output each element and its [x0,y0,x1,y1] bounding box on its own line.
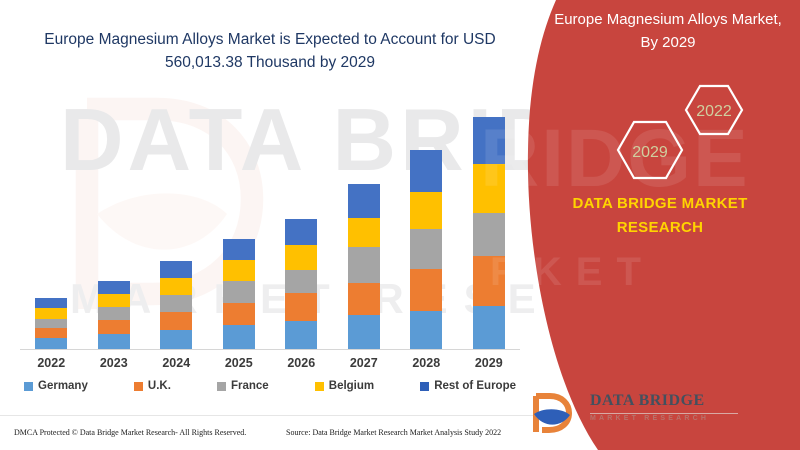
stacked-bar[interactable] [285,219,317,349]
legend-label: Belgium [329,380,374,392]
stacked-bar[interactable] [35,298,67,349]
logo-text-sub: MARKET RESEARCH [590,415,709,422]
bar-group [20,90,83,349]
bar-segment[interactable] [410,229,442,269]
bar-group [208,90,271,349]
bar-segment[interactable] [98,281,130,294]
bar-segment[interactable] [223,303,255,325]
legend-swatch-icon [217,382,226,391]
legend-label: France [231,380,269,392]
x-axis-label: 2028 [395,356,458,370]
bar-group [333,90,396,349]
bar-group [270,90,333,349]
bar-segment[interactable] [35,298,67,308]
bar-segment[interactable] [35,338,67,349]
hexagon-2022-label: 2022 [696,103,732,120]
bar-group [83,90,146,349]
legend-label: Germany [38,380,88,392]
bar-segment[interactable] [285,321,317,349]
bar-segment[interactable] [98,334,130,349]
legend-item[interactable]: Germany [24,380,88,392]
bar-segment[interactable] [98,307,130,320]
x-axis-label: 2024 [145,356,208,370]
bar-segment[interactable] [160,312,192,330]
legend-swatch-icon [420,382,429,391]
data-bridge-logo-icon [528,392,584,436]
bar-chart-plot-area [20,90,520,350]
bar-segment[interactable] [348,218,380,248]
stacked-bar[interactable] [410,150,442,349]
company-logo: DATA BRIDGE MARKET RESEARCH [528,392,768,438]
hexagon-2029-label: 2029 [632,144,668,161]
x-axis-label: 2025 [208,356,271,370]
bar-segment[interactable] [223,260,255,281]
bar-segment[interactable] [35,319,67,328]
legend-label: Rest of Europe [434,380,516,392]
hexagon-badges: 2022 2029 [550,78,780,193]
bar-segment[interactable] [285,293,317,321]
bar-segment[interactable] [410,269,442,311]
bar-segment[interactable] [160,278,192,295]
x-axis-label: 2022 [20,356,83,370]
bar-segment[interactable] [285,219,317,246]
logo-text-main: DATA BRIDGE [590,392,705,410]
legend-item[interactable]: U.K. [134,380,171,392]
panel-brand-line2: RESEARCH [617,219,704,236]
bar-segment[interactable] [160,295,192,312]
stacked-bar[interactable] [223,239,255,349]
bar-series-container [20,90,520,349]
bar-segment[interactable] [35,308,67,319]
bar-segment[interactable] [473,306,505,349]
legend-item[interactable]: Rest of Europe [420,380,516,392]
bar-group [145,90,208,349]
stacked-bar[interactable] [98,281,130,349]
x-axis-line [20,349,520,350]
bar-segment[interactable] [35,328,67,338]
legend-label: U.K. [148,380,171,392]
legend-swatch-icon [315,382,324,391]
legend-swatch-icon [24,382,33,391]
bar-segment[interactable] [160,330,192,349]
branding-panel: RIDGE RKET Europe Magnesium Alloys Marke… [510,0,800,450]
bar-segment[interactable] [410,150,442,192]
panel-brand-name: DATA BRIDGE MARKET RESEARCH [550,192,770,240]
bar-segment[interactable] [160,261,192,278]
infographic-canvas: DATA BRIDGE MARKET RESEARCH Europe Magne… [0,0,800,450]
legend-item[interactable]: France [217,380,269,392]
bar-segment[interactable] [223,239,255,260]
panel-title: Europe Magnesium Alloys Market, By 2029 [548,8,788,55]
bar-segment[interactable] [348,247,380,283]
bar-segment[interactable] [98,320,130,334]
stacked-bar[interactable] [160,261,192,349]
bar-segment[interactable] [285,245,317,270]
x-axis-label: 2026 [270,356,333,370]
page-title: Europe Magnesium Alloys Market is Expect… [20,28,520,75]
bar-segment[interactable] [348,283,380,315]
legend-swatch-icon [134,382,143,391]
panel-brand-line1: DATA BRIDGE MARKET [572,195,747,212]
footer-source-text: Source: Data Bridge Market Research Mark… [286,428,501,437]
panel-watermark-secondary: RKET [490,250,655,295]
footer-dmca-text: DMCA Protected © Data Bridge Market Rese… [14,428,246,437]
bar-segment[interactable] [348,315,380,349]
footer-divider [0,415,560,416]
bar-segment[interactable] [285,270,317,293]
x-axis-tick-labels: 20222023202420252026202720282029 [20,356,520,370]
bar-segment[interactable] [223,325,255,349]
chart-panel: Europe Magnesium Alloys Market is Expect… [0,0,560,450]
bar-segment[interactable] [410,192,442,230]
bar-segment[interactable] [348,184,380,218]
bar-segment[interactable] [410,311,442,349]
bar-segment[interactable] [98,294,130,307]
bar-group [395,90,458,349]
bar-segment[interactable] [223,281,255,303]
x-axis-label: 2023 [83,356,146,370]
x-axis-label: 2027 [333,356,396,370]
stacked-bar[interactable] [348,184,380,349]
logo-divider [590,413,738,414]
chart-legend: GermanyU.K.FranceBelgiumRest of Europe [20,380,520,392]
legend-item[interactable]: Belgium [315,380,374,392]
